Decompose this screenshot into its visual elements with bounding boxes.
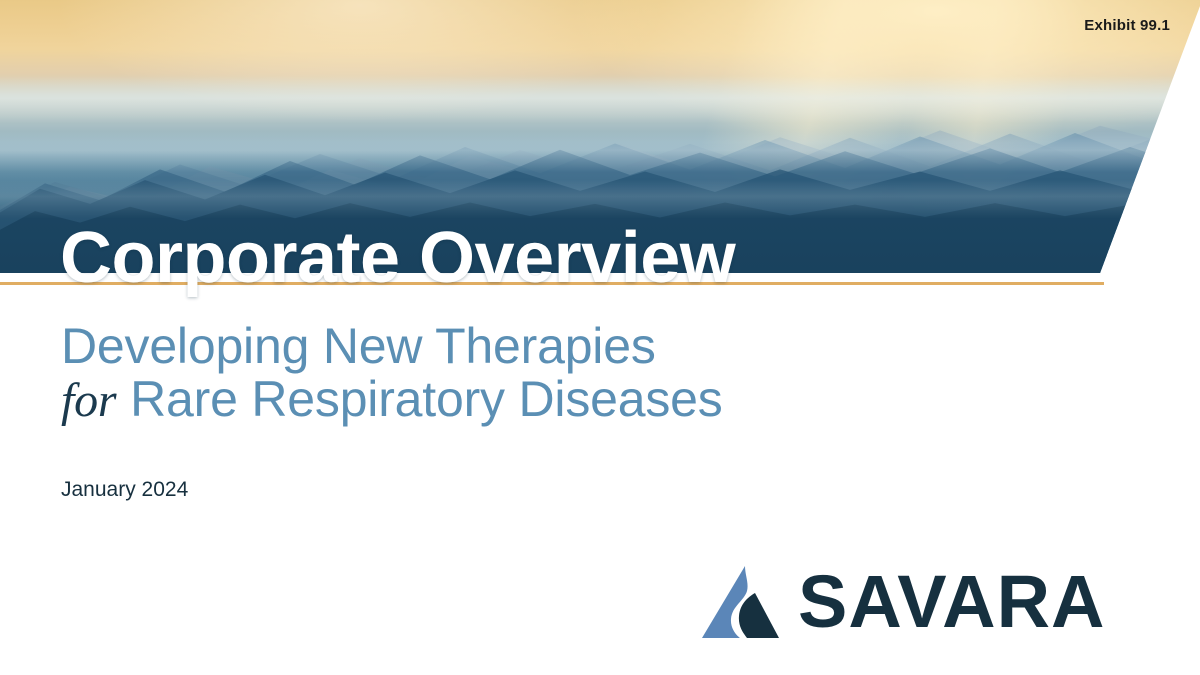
subtitle-line-two: for Rare Respiratory Diseases	[61, 373, 723, 427]
page-title: Corporate Overview	[60, 222, 735, 294]
subtitle-for-word: for	[61, 374, 116, 427]
subtitle-line-one: Developing New Therapies	[61, 320, 723, 373]
exhibit-label: Exhibit 99.1	[1084, 17, 1170, 34]
subtitle-line-two-rest: Rare Respiratory Diseases	[116, 371, 722, 427]
savara-logo: SAVARA	[700, 563, 1106, 641]
slide-date: January 2024	[61, 478, 188, 502]
savara-wordmark: SAVARA	[798, 565, 1106, 639]
savara-triangle-mark	[700, 563, 782, 641]
subtitle: Developing New Therapies for Rare Respir…	[61, 320, 723, 427]
